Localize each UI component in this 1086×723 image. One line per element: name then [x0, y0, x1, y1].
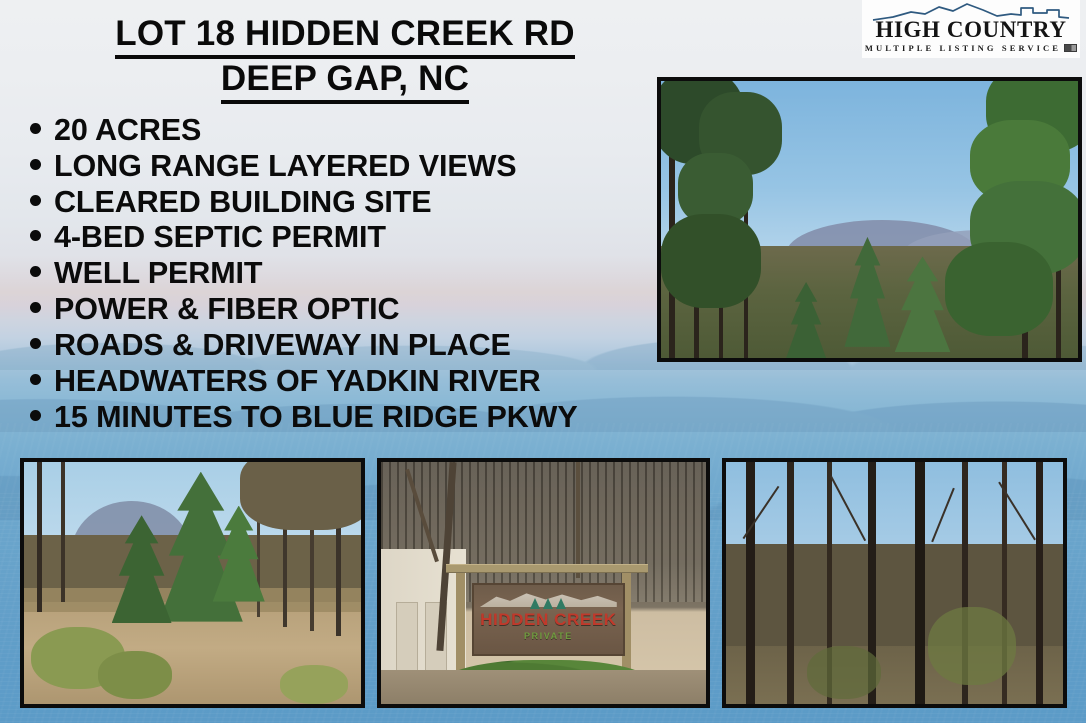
sign-beam — [446, 564, 648, 573]
tree-trunk — [1036, 462, 1043, 704]
shrub — [928, 607, 1016, 684]
list-item: POWER & FIBER OPTIC — [30, 292, 690, 328]
ground — [381, 670, 706, 704]
photo-entrance-sign-scene: HIDDEN CREEK PRIVATE — [381, 462, 706, 704]
tree-icon — [530, 598, 540, 609]
bullet-dot-icon — [30, 159, 41, 170]
sign-tree-icons — [530, 598, 566, 609]
page-title: LOT 18 HIDDEN CREEK RD DEEP GAP, NC — [0, 14, 690, 104]
list-item: CLEARED BUILDING SITE — [30, 185, 690, 221]
tree-trunk — [61, 462, 65, 602]
mls-logo: HIGH COUNTRY MULTIPLE LISTING SERVICE — [862, 0, 1080, 58]
feature-label: LONG RANGE LAYERED VIEWS — [54, 149, 517, 185]
list-item: WELL PERMIT — [30, 256, 690, 292]
list-item: LONG RANGE LAYERED VIEWS — [30, 149, 690, 185]
tree-canopy — [945, 242, 1053, 336]
tree-trunk — [37, 462, 42, 612]
feature-label: ROADS & DRIVEWAY IN PLACE — [54, 328, 511, 364]
bullet-dot-icon — [30, 266, 41, 277]
tree-canopy — [240, 462, 361, 530]
title-line-city-state: DEEP GAP, NC — [221, 59, 469, 104]
title-line-address: LOT 18 HIDDEN CREEK RD — [115, 14, 574, 59]
mls-logo-tagline: MULTIPLE LISTING SERVICE — [865, 43, 1061, 53]
photo-entrance-sign: HIDDEN CREEK PRIVATE — [377, 458, 710, 708]
feature-label: 15 MINUTES TO BLUE RIDGE PKWY — [54, 400, 578, 436]
feature-label: 20 ACRES — [54, 113, 201, 149]
feature-label: POWER & FIBER OPTIC — [54, 292, 399, 328]
mls-logo-tagline-row: MULTIPLE LISTING SERVICE — [862, 43, 1080, 53]
mls-logo-high: HIGH — [875, 17, 940, 42]
mls-logo-wordmark: HIGH COUNTRY — [862, 18, 1080, 41]
bullet-dot-icon — [30, 195, 41, 206]
list-item: HEADWATERS OF YADKIN RIVER — [30, 364, 690, 400]
list-item: 15 MINUTES TO BLUE RIDGE PKWY — [30, 400, 690, 436]
list-item: ROADS & DRIVEWAY IN PLACE — [30, 328, 690, 364]
tree-trunk — [746, 462, 755, 704]
feature-label: CLEARED BUILDING SITE — [54, 185, 431, 221]
bullet-dot-icon — [30, 302, 41, 313]
photo-hero-scene — [661, 81, 1078, 358]
tree-trunk — [915, 462, 925, 704]
tree-icon — [543, 598, 553, 609]
photo-wooded-hillside — [722, 458, 1067, 708]
sign-subtitle: PRIVATE — [524, 631, 573, 641]
shrub — [98, 651, 172, 699]
bullet-dot-icon — [30, 374, 41, 385]
sign-title: HIDDEN CREEK — [480, 610, 617, 630]
photo-cleared-site-scene — [24, 462, 361, 704]
hidden-creek-sign: HIDDEN CREEK PRIVATE — [472, 583, 625, 656]
list-item: 20 ACRES — [30, 113, 690, 149]
tree-icon — [556, 598, 566, 609]
house-door — [396, 602, 418, 673]
list-item: 4-BED SEPTIC PERMIT — [30, 220, 690, 256]
shrub — [280, 665, 347, 704]
bullet-dot-icon — [30, 123, 41, 134]
shrub — [807, 646, 881, 699]
tree-trunk — [787, 462, 794, 704]
tree-trunk — [576, 462, 580, 578]
realtor-mark-icon — [1064, 44, 1077, 52]
photo-wooded-hillside-scene — [726, 462, 1063, 704]
tree-canopy — [661, 214, 761, 308]
bullet-dot-icon — [30, 410, 41, 421]
mls-logo-country: COUNTRY — [947, 17, 1067, 42]
listing-flyer: LOT 18 HIDDEN CREEK RD DEEP GAP, NC HIGH… — [0, 0, 1086, 723]
photo-hero-view — [657, 77, 1082, 362]
feature-label: 4-BED SEPTIC PERMIT — [54, 220, 386, 256]
sign-post — [456, 573, 465, 679]
bullet-dot-icon — [30, 230, 41, 241]
photo-cleared-site — [20, 458, 365, 708]
feature-label: WELL PERMIT — [54, 256, 262, 292]
bullet-dot-icon — [30, 338, 41, 349]
feature-label: HEADWATERS OF YADKIN RIVER — [54, 364, 541, 400]
feature-list: 20 ACRES LONG RANGE LAYERED VIEWS CLEARE… — [30, 113, 690, 435]
